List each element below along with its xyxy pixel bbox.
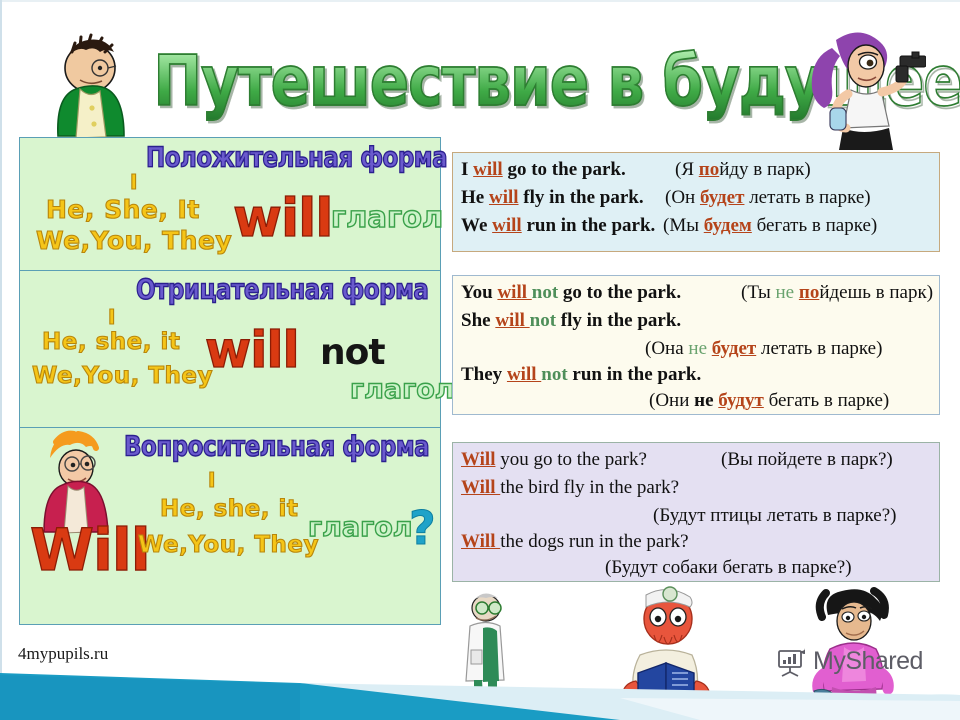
negative-heading: Отрицательная форма [136, 275, 428, 306]
negative-verb-label: глагол [350, 374, 455, 405]
interrogative-pronoun-3rd: He, she, it [160, 496, 298, 522]
example-subject: He [461, 187, 489, 208]
negative-row: Отрицательная форма I He, she, it We,You… [20, 271, 440, 428]
translation-highlight: будем [704, 215, 752, 236]
leela-character [796, 22, 926, 150]
interrogative-question-mark: ? [409, 501, 436, 555]
translation-highlight: будет [700, 187, 744, 208]
affirmative-example-line: We will run in the park. [461, 215, 655, 237]
translation-open: (Ты [741, 282, 776, 303]
interrogative-verb-label: глагол [308, 512, 413, 543]
site-watermark: 4mypupils.ru [18, 644, 108, 664]
negative-pronoun-i: I [108, 305, 116, 329]
translation-tail: бегать в парке) [764, 390, 889, 411]
negative-translation: (Ты не пойдешь в парк) [741, 282, 933, 304]
translation-open: (Мы [663, 215, 704, 236]
example-aux: will [495, 310, 529, 331]
interrogative-heading: Вопросительная форма [124, 432, 429, 463]
example-predicate: the dogs run in the park? [500, 531, 688, 552]
example-aux: will [489, 187, 519, 208]
translation-text: (Будут собаки бегать в парке?) [605, 557, 852, 578]
affirmative-example-line: He will fly in the park. [461, 187, 644, 209]
interrogative-translation: (Будут птицы летать в парке?) [653, 505, 897, 527]
interrogative-pronoun-i: I [208, 468, 216, 492]
example-not: not [530, 310, 556, 331]
slide-canvas: Путешествие в будущее [0, 0, 960, 720]
example-predicate: run in the park. [568, 364, 702, 385]
translation-open: (Они [649, 390, 694, 411]
negative-example-line: She will not fly in the park. [461, 310, 681, 332]
example-aux: will [497, 282, 531, 303]
translation-highlight: по [699, 159, 719, 180]
translation-tail: бегать в парке) [752, 215, 877, 236]
interrogative-aux-will: Will [30, 516, 150, 584]
negative-examples-box: You will not go to the park. (Ты не пойд… [452, 275, 940, 415]
slide-title: Путешествие в будущее [160, 34, 820, 114]
affirmative-examples-box: I will go to the park. (Я пойду в парк) … [452, 152, 940, 252]
negative-aux-not: not [320, 332, 385, 373]
example-subject: We [461, 215, 492, 236]
interrogative-pronoun-plural: We,You, They [138, 532, 319, 558]
example-aux: will [492, 215, 522, 236]
example-subject: I [461, 159, 473, 180]
translation-text: (Вы пойдете в парк?) [721, 449, 893, 470]
affirmative-row: Положительная форма I He, She, It We,You… [20, 138, 440, 271]
negative-aux-will: will [205, 321, 299, 379]
translation-open: (Он [665, 187, 700, 208]
example-aux: will [473, 159, 503, 180]
example-predicate: the bird fly in the park? [500, 477, 679, 498]
hermes-character [28, 28, 138, 138]
interrogative-translation: (Будут собаки бегать в парке?) [605, 557, 852, 579]
affirmative-translation: (Мы будем бегать в парке) [663, 215, 877, 237]
example-predicate: fly in the park. [519, 187, 644, 208]
affirmative-example-line: I will go to the park. [461, 159, 626, 181]
translation-text: (Будут птицы летать в парке?) [653, 505, 897, 526]
interrogative-example-line: Will the dogs run in the park? [461, 531, 689, 553]
slide-title-text: Путешествие в будущее [153, 34, 826, 129]
example-predicate: fly in the park. [556, 310, 681, 331]
negative-translation: (Они не будут бегать в парке) [649, 390, 889, 412]
footer-decoration [0, 665, 960, 720]
example-not: not [532, 282, 558, 303]
example-not: not [541, 364, 567, 385]
negative-translation: (Она не будет летать в парке) [645, 338, 882, 360]
affirmative-heading: Положительная форма [146, 143, 447, 174]
slide-top-edge [0, 0, 960, 2]
example-aux: Will [461, 477, 500, 498]
translation-tail: летать в парке) [744, 187, 870, 208]
example-aux: will [507, 364, 541, 385]
example-predicate: you go to the park? [496, 449, 647, 470]
affirmative-verb-label: глагол [331, 200, 443, 234]
affirmative-pronoun-plural: We,You, They [36, 226, 232, 255]
translation-highlight: будет [712, 338, 756, 359]
example-subject: She [461, 310, 495, 331]
negative-pronoun-plural: We,You, They [32, 363, 213, 389]
negative-example-line: They will not run in the park. [461, 364, 701, 386]
affirmative-translation: (Я пойду в парк) [675, 159, 811, 181]
translation-highlight: по [799, 282, 819, 303]
slide-left-edge [0, 0, 2, 690]
translation-tail: йду в парк) [719, 159, 810, 180]
example-predicate: run in the park. [522, 215, 656, 236]
translation-ne: не [694, 390, 713, 411]
interrogative-example-line: Will you go to the park? [461, 449, 647, 471]
affirmative-pronoun-i: I [130, 170, 138, 194]
translation-ne: не [776, 282, 795, 303]
affirmative-translation: (Он будет летать в парке) [665, 187, 871, 209]
translation-highlight: будут [718, 390, 764, 411]
translation-open: (Я [675, 159, 699, 180]
interrogative-examples-box: Will you go to the park? (Вы пойдете в п… [452, 442, 940, 582]
interrogative-row: Вопросительная форма Will I He, she, it … [20, 428, 440, 622]
example-aux: Will [461, 531, 500, 552]
affirmative-pronoun-3rd: He, She, It [46, 195, 200, 224]
translation-tail: йдешь в парк) [819, 282, 933, 303]
translation-tail: летать в парке) [756, 338, 882, 359]
translation-open: (Она [645, 338, 688, 359]
affirmative-aux-will: will [233, 188, 332, 249]
translation-ne: не [688, 338, 707, 359]
example-subject: You [461, 282, 497, 303]
grammar-table: Положительная форма I He, She, It We,You… [19, 137, 441, 625]
example-predicate: go to the park. [503, 159, 626, 180]
interrogative-example-line: Will the bird fly in the park? [461, 477, 679, 499]
interrogative-translation: (Вы пойдете в парк?) [721, 449, 893, 471]
example-aux: Will [461, 449, 496, 470]
example-subject: They [461, 364, 507, 385]
negative-pronoun-3rd: He, she, it [42, 329, 180, 355]
example-predicate: go to the park. [558, 282, 681, 303]
negative-example-line: You will not go to the park. [461, 282, 681, 304]
